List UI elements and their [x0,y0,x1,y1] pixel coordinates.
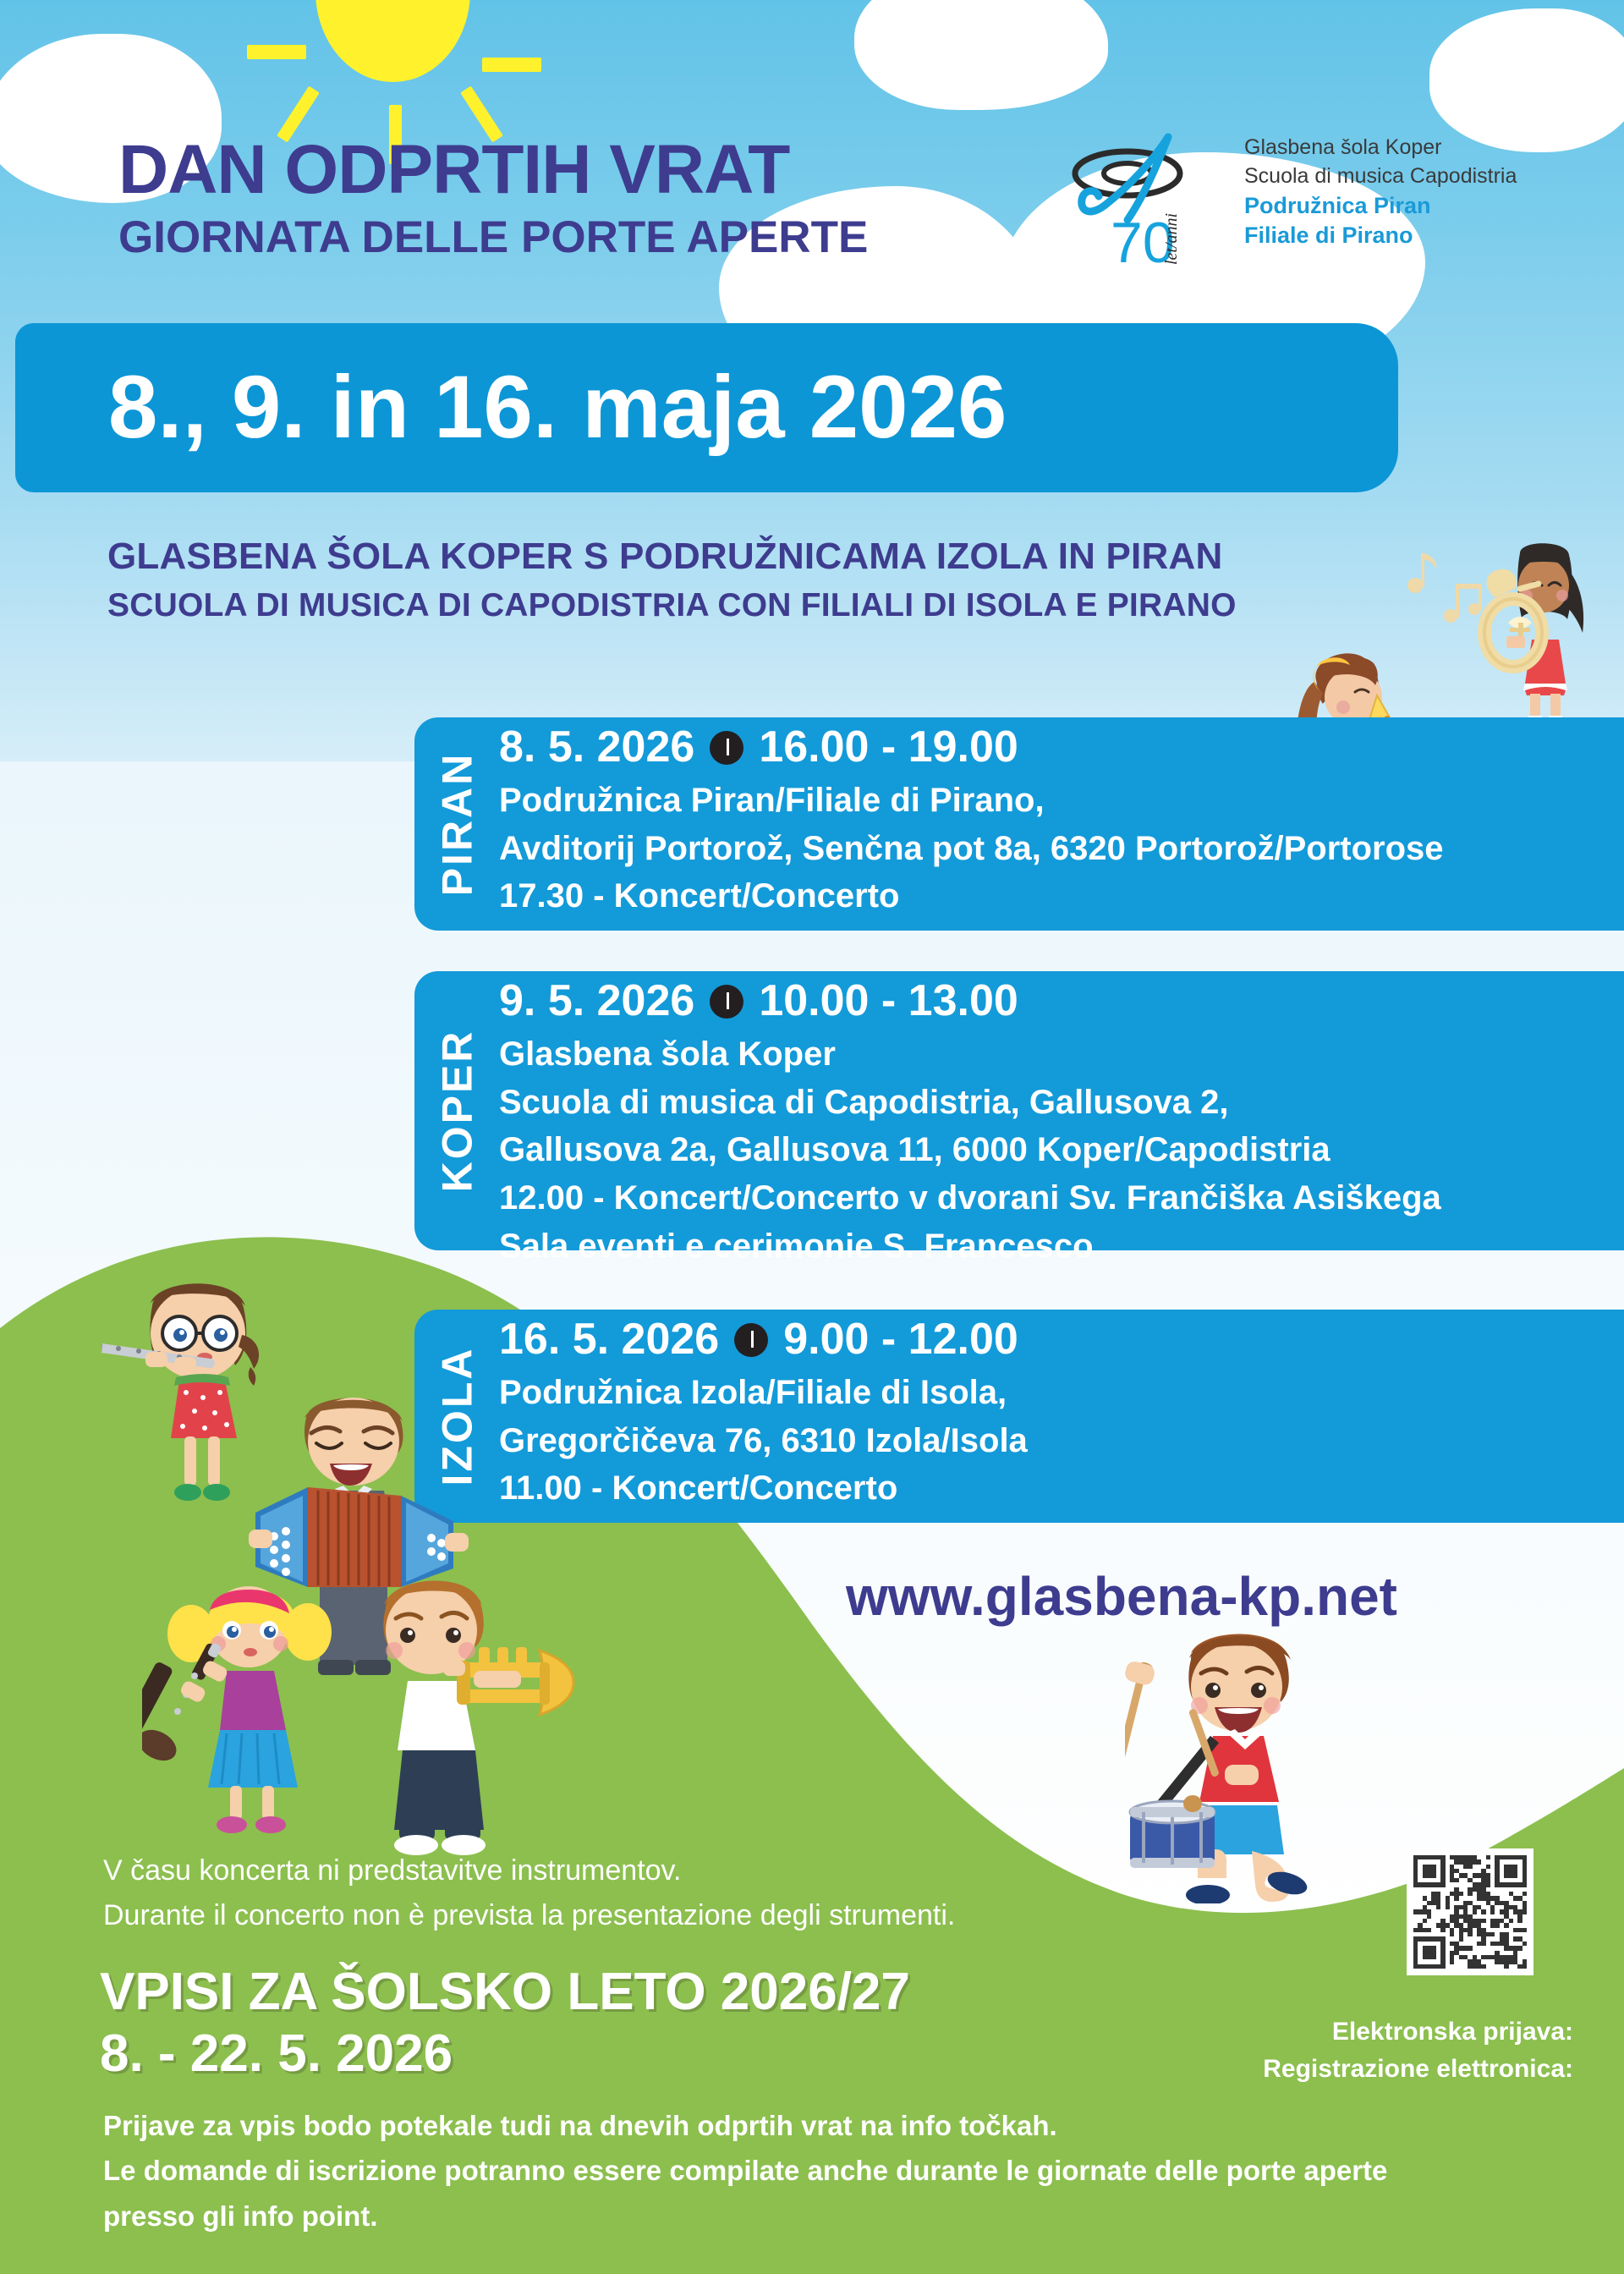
event-body-piran: 8. 5. 2026 16.00 - 19.00 Podružnica Pira… [499,717,1624,931]
event-datetime-piran: 8. 5. 2026 16.00 - 19.00 [499,722,1624,773]
event-detail-line: Glasbena šola Koper [499,1030,1624,1079]
note-italian: Durante il concerto non è prevista la pr… [103,1893,1203,1938]
event-time: 16.00 - 19.00 [759,722,1018,773]
registration-label-slovene: Elektronska prijava: [1176,2013,1573,2051]
illustration-music-notes [1400,550,1493,651]
logo-line-4: Filiale di Pirano [1244,221,1517,251]
website-url[interactable]: www.glasbena-kp.net [846,1565,1397,1628]
sun-ray [482,58,541,72]
city-label-piran: PIRAN [414,717,499,931]
logo-line-1: Glasbena šola Koper [1244,134,1517,162]
logo-line-3: Podružnica Piran [1244,191,1517,222]
title-slovene: DAN ODPRTIH VRAT [118,135,1049,205]
event-detail-line: 11.00 - Koncert/Concerto [499,1464,1624,1513]
city-label-koper: KOPER [414,971,499,1250]
school-logo: 70 let/anni Glasbena šola Koper Scuola d… [1062,127,1586,279]
clock-icon [710,731,743,765]
enrollment-info-slovene: Prijave za vpis bodo potekale tudi na dn… [103,2103,1558,2148]
enrollment-heading: VPISI ZA ŠOLSKO LETO 2026/27 8. - 22. 5.… [100,1963,1199,2084]
illustration-trumpet-boy [338,1569,584,1865]
subtitle-slovene: GLASBENA ŠOLA KOPER S PODRUŽNICAMA IZOLA… [107,533,1376,580]
illustration-clarinet-girl [142,1561,354,1840]
registration-labels: Elektronska prijava: Registrazione elett… [1176,2013,1573,2087]
enrollment-info-italian-2: presso gli info point. [103,2194,1558,2238]
concert-note: V času koncerta ni predstavitve instrume… [103,1848,1203,1937]
qr-code-icon[interactable] [1407,1848,1533,1975]
event-card-koper: KOPER 9. 5. 2026 10.00 - 13.00 Glasbena … [414,971,1624,1250]
event-detail-line: 17.30 - Koncert/Concerto [499,872,1624,920]
logo-mark-icon: 70 let/anni [1062,127,1231,271]
event-datetime-koper: 9. 5. 2026 10.00 - 13.00 [499,976,1624,1027]
page-title: DAN ODPRTIH VRAT GIORNATA DELLE PORTE AP… [118,135,1049,260]
school-subtitle: GLASBENA ŠOLA KOPER S PODRUŽNICAMA IZOLA… [107,533,1376,627]
logo-text-block: Glasbena šola Koper Scuola di musica Cap… [1244,127,1517,251]
sun-ray [247,45,306,59]
clock-icon [710,985,743,1019]
event-detail-line: 12.00 - Koncert/Concerto v dvorani Sv. F… [499,1174,1624,1222]
poster-root: DAN ODPRTIH VRAT GIORNATA DELLE PORTE AP… [0,0,1624,2274]
event-detail-line: Podružnica Piran/Filiale di Pirano, [499,777,1624,825]
event-datetime-izola: 16. 5. 2026 9.00 - 12.00 [499,1315,1624,1365]
subtitle-italian: SCUOLA DI MUSICA DI CAPODISTRIA CON FILI… [107,585,1376,627]
enrollment-info-italian-1: Le domande di iscrizione potranno essere… [103,2148,1558,2193]
event-detail-line: Avditorij Portorož, Senčna pot 8a, 6320 … [499,825,1624,873]
event-detail-line: Podružnica Izola/Filiale di Isola, [499,1369,1624,1417]
logo-line-2: Scuola di musica Capodistria [1244,162,1517,191]
clock-icon [734,1323,768,1357]
event-detail-line: Gallusova 2a, Gallusova 11, 6000 Koper/C… [499,1126,1624,1174]
enrollment-info: Prijave za vpis bodo potekale tudi na dn… [103,2103,1558,2238]
event-date: 8. 5. 2026 [499,722,694,773]
event-body-koper: 9. 5. 2026 10.00 - 13.00 Glasbena šola K… [499,971,1624,1250]
date-banner-text: 8., 9. in 16. maja 2026 [108,357,1007,459]
event-card-izola: IZOLA 16. 5. 2026 9.00 - 12.00 Podružnic… [414,1310,1624,1523]
event-detail-line: Sala eventi e cerimonie S. Francesco [499,1222,1624,1271]
event-body-izola: 16. 5. 2026 9.00 - 12.00 Podružnica Izol… [499,1310,1624,1523]
registration-label-italian: Registrazione elettronica: [1176,2051,1573,2088]
event-time: 10.00 - 13.00 [759,976,1018,1027]
enrollment-dates: 8. - 22. 5. 2026 [100,2024,1199,2083]
event-card-piran: PIRAN 8. 5. 2026 16.00 - 19.00 Podružnic… [414,717,1624,931]
event-date: 9. 5. 2026 [499,976,694,1027]
note-slovene: V času koncerta ni predstavitve instrume… [103,1848,1203,1893]
date-banner: 8., 9. in 16. maja 2026 [15,323,1398,492]
event-detail-line: Scuola di musica di Capodistria, Galluso… [499,1079,1624,1127]
event-date: 16. 5. 2026 [499,1315,719,1365]
event-time: 9.00 - 12.00 [783,1315,1018,1365]
event-detail-line: Gregorčičeva 76, 6310 Izola/Isola [499,1417,1624,1465]
enrollment-title: VPISI ZA ŠOLSKO LETO 2026/27 [100,1963,1199,2021]
anniversary-unit: let/anni [1162,213,1181,265]
title-italian: GIORNATA DELLE PORTE APERTE [118,215,1049,260]
